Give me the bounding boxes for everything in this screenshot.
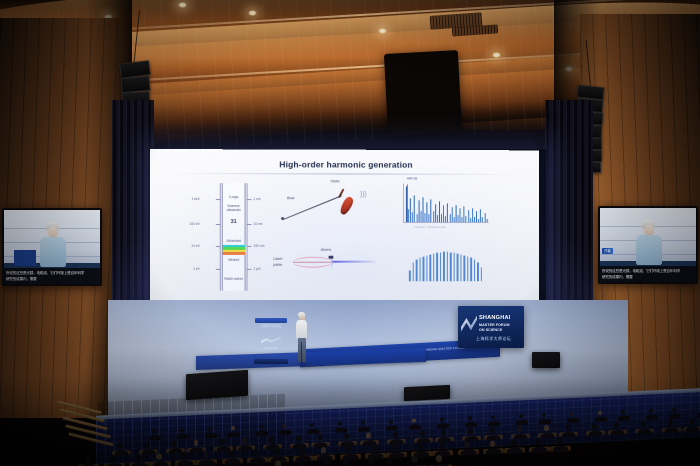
audience-member-head [490, 428, 495, 434]
em-spectrum-diagram: 1 keV 100 eV 10 eV 1 eV 1 nm 10 nm 100 n… [190, 183, 275, 291]
audience-member-head [361, 420, 365, 425]
audience-member-head [411, 456, 417, 464]
violin-body [338, 195, 355, 216]
audience-member-head [321, 447, 326, 453]
atom-target [328, 256, 333, 259]
spectrum-tick-right [247, 199, 252, 200]
laser-label-line2: pulse [273, 263, 282, 267]
spectrum-tick-right [247, 224, 252, 225]
forum-logo-swoosh [461, 314, 477, 336]
energy-label: 100 eV [189, 222, 199, 226]
harmonic-peak [433, 212, 434, 222]
harmonic-peak [409, 271, 411, 282]
monitor-subtitle-line2: 研究的成果内，需要 [6, 277, 98, 282]
audience-member-head [172, 441, 177, 447]
harmonic-peak [470, 218, 471, 222]
audience-member-head [259, 425, 263, 430]
audience-member-head [464, 442, 469, 448]
audience-member-head [254, 450, 259, 456]
harmonic-peak [453, 217, 454, 222]
audience-member-head [368, 457, 374, 465]
harmonic-peak [406, 186, 407, 222]
harmonic-peak [474, 217, 475, 222]
harmonic-peak [462, 218, 463, 222]
audience-member-head [412, 418, 416, 423]
auditorium-scene: High-order harmonic generation 1 keV 100… [0, 0, 700, 466]
spectrum-tick-right [247, 246, 252, 247]
podium-base [254, 359, 288, 364]
audience-member-head [517, 426, 522, 432]
audience-member-head [440, 417, 444, 422]
audience-member-head [275, 460, 281, 466]
bow-label: Bow [287, 196, 294, 200]
forum-sign-line3: ON SCIENCE [479, 328, 502, 332]
audience-member-head [228, 451, 233, 457]
spectrum-tick-left [216, 224, 221, 225]
presenter-shadow [294, 362, 312, 366]
audience-member-head [296, 436, 301, 442]
wavelength-label: 1 µm [253, 267, 260, 271]
harmonic-peak [486, 219, 487, 222]
monitor-speaker-body [40, 237, 66, 267]
audience-member-head [118, 443, 123, 449]
audience-member-head [343, 458, 349, 466]
harmonic-peak [445, 216, 446, 222]
audience-member-head [338, 421, 342, 426]
audience-member-head [180, 428, 184, 433]
audience-member-head [557, 438, 562, 444]
audience-seating [0, 398, 700, 466]
lectern-podium: 上海科学大师论坛 SHANGHAI [256, 318, 286, 364]
slide-title: High-order harmonic generation [150, 159, 539, 170]
audience-member-head [344, 434, 349, 440]
harmonic-peak [457, 254, 459, 282]
stage-equipment-case [532, 352, 560, 368]
harmonic-peak [464, 206, 465, 222]
audience-member-head [324, 459, 330, 466]
harmonic-peak [484, 213, 485, 222]
audience-member-head [442, 430, 447, 436]
violin-label: Violin [330, 179, 339, 183]
harmonic-peak [449, 215, 450, 222]
audience-member-head [510, 440, 515, 446]
audience-member-head [212, 463, 218, 466]
harmonic-peak [431, 200, 432, 223]
harmonic-peak [460, 254, 462, 281]
harmonic-peak [416, 260, 418, 281]
monitor-speaker-body [636, 235, 662, 265]
ceiling-downlight [492, 52, 501, 58]
audience-member-head [519, 414, 523, 419]
harmonic-peak [437, 215, 438, 222]
band-name-xrays: X-rays [222, 196, 246, 200]
harmonic-peak [467, 256, 469, 281]
harmonic-peaks [403, 183, 489, 223]
spectrum-tick-left [216, 269, 221, 270]
presenter-leg-gap [301, 342, 302, 362]
audience-member-head [282, 424, 286, 429]
wavelength-label: 1 nm [253, 197, 260, 201]
harmonic-comb-peaks [405, 247, 489, 283]
band-name-uv: Ultraviolet [222, 240, 246, 244]
highlight-energy-value: 31 [222, 219, 246, 225]
audience-member-head [274, 449, 279, 455]
harmonic-peak [470, 258, 472, 281]
band-name-euv: Extreme ultraviolet [222, 205, 246, 213]
harmonic-peak [419, 258, 421, 281]
harmonic-peak [447, 203, 448, 222]
audience-member-head [392, 444, 397, 450]
forum-signage: SHANGHAI MASTER FORUM ON SCIENCE 上海科学大师论… [458, 306, 524, 348]
audience-member-head [346, 446, 351, 452]
audience-member-head [208, 427, 212, 432]
band-name-radio: Radio waves [222, 278, 246, 282]
harmonic-peak [453, 253, 455, 281]
audience-member-head [182, 452, 187, 458]
ceiling-downlight [248, 10, 257, 16]
harmonic-peak [408, 209, 409, 222]
energy-label: 1 keV [191, 197, 199, 201]
audience-member-head [85, 456, 90, 462]
harmonic-peak [414, 196, 415, 222]
audience-member-head [318, 435, 323, 441]
harmonic-peak [443, 252, 445, 281]
harmonic-peak [425, 213, 426, 222]
harmonic-peak [443, 206, 444, 222]
harmonic-peak [433, 254, 435, 282]
harmonic-peak [412, 212, 413, 222]
acoustic-panel [384, 50, 462, 136]
audience-member-head [269, 437, 274, 443]
audience-member-head [299, 460, 305, 466]
audience-member-head [436, 455, 442, 463]
harmonic-peak [439, 202, 440, 222]
audience-member-head [491, 415, 495, 420]
harmonic-peak [478, 219, 479, 222]
audience-member-head [372, 445, 377, 451]
harmonic-peak [423, 256, 425, 281]
band-name-infrared: Infrared [222, 259, 246, 263]
harmonic-peak [441, 214, 442, 222]
harmonic-peak [416, 214, 417, 222]
energy-label: 1 eV [193, 267, 200, 271]
audience-member-head [203, 452, 208, 458]
presenter-torso [296, 320, 307, 339]
harmonic-peak [480, 209, 481, 222]
projection-screen: High-order harmonic generation 1 keV 100… [150, 149, 546, 304]
wavelength-label: 100 nm [253, 244, 264, 248]
monitor-podium [14, 250, 36, 266]
audience-member-head [300, 448, 305, 454]
violin-neck [338, 188, 344, 198]
audience-member-head [592, 423, 597, 429]
audience-member-head [614, 422, 619, 428]
atoms-label: Atoms [321, 248, 332, 252]
audience-member-head [145, 442, 150, 448]
harmonic-peak [458, 215, 459, 222]
monitor-screen-right: 开幕 所说的这些是光锅，电磁波，它们环境上是百年科学 研究的成果内，需要 [600, 208, 696, 282]
harmonic-peak [429, 254, 431, 281]
audience-member-head [393, 432, 398, 438]
audience-member-head [366, 433, 371, 439]
audience-member-head [468, 416, 472, 421]
audience-member-head [542, 413, 546, 418]
audience-member-head [242, 438, 247, 444]
energy-label: 10 eV [191, 244, 200, 248]
bow-frog [281, 217, 284, 220]
audience-member-head [621, 409, 625, 414]
audience-member-head [152, 429, 156, 434]
audience-member-head [672, 407, 676, 412]
spectrum-tick-right [247, 269, 252, 270]
audience-member-head [649, 408, 653, 413]
violin-harmonic-spectrum-plot: 440 Hz Courtesy: Christoph Hauri [403, 183, 489, 223]
wavelength-label: 10 nm [253, 222, 262, 226]
audience-member-head [387, 457, 393, 465]
audience-member-head [389, 419, 393, 424]
audience-member-head [418, 443, 423, 449]
audience-member-head [156, 453, 161, 459]
audience-member-head [598, 410, 602, 415]
harmonic-peak [472, 208, 473, 222]
harmonic-peak [427, 203, 428, 223]
plot-credit: Courtesy: Christoph Hauri [415, 225, 446, 229]
audience-member-head [194, 440, 199, 446]
harmonic-peak [440, 252, 442, 281]
audience-member-head [231, 462, 237, 466]
audience-member-head [256, 461, 262, 466]
harmonic-peak [451, 207, 452, 222]
frequency-label: 440 Hz [407, 177, 417, 181]
audience-member-head [231, 426, 235, 431]
monitor-subtitle-line1: 所说的这些是光锅，电磁波，它们环境上是百年科学 [602, 269, 694, 274]
audience-member-head [420, 430, 425, 436]
presenter-figure [294, 312, 310, 364]
harmonic-peak [412, 263, 414, 282]
harmonic-peak [466, 216, 467, 222]
harmonic-peak [476, 212, 477, 222]
audience-member-head [490, 441, 495, 447]
harmonic-peak [468, 210, 469, 222]
sound-wave-icon: ))) [360, 191, 367, 198]
harmonic-peak [477, 263, 479, 281]
monitor-screen-left: 所说的这些是光锅，电磁波，它们环境上是百年科学 研究的成果内，需要 [4, 210, 100, 284]
harmonic-peak [410, 199, 411, 222]
audience-member-head [641, 421, 646, 427]
monitor-subtitle-bar-right: 所说的这些是光锅，电磁波，它们环境上是百年科学 研究的成果内，需要 [600, 266, 696, 282]
side-monitor-right: 开幕 所说的这些是光锅，电磁波，它们环境上是百年科学 研究的成果内，需要 [598, 206, 698, 284]
laser-label-line1: Laser [273, 257, 282, 261]
harmonic-peak [460, 209, 461, 222]
audience-member-head [668, 420, 673, 426]
audience-member-head [220, 439, 225, 445]
harmonic-peak [455, 205, 456, 222]
audience-member-head [566, 424, 571, 430]
harmonic-peak [435, 204, 436, 222]
audience-member-head [690, 419, 695, 425]
audience-member-head [544, 425, 549, 431]
harmonic-peak [418, 200, 419, 222]
spectrum-tick-left [216, 199, 221, 200]
audience-member-head [136, 454, 141, 460]
audience-member-head [570, 412, 574, 417]
spectrum-tick-left [216, 246, 221, 247]
audience-member-head [536, 439, 541, 445]
violin-analogy-diagram: Bow Violin ))) [277, 179, 395, 235]
harmonic-emission-beam [332, 261, 375, 263]
harmonic-peak [482, 218, 483, 222]
audience-member-head [310, 422, 314, 427]
harmonic-peak [450, 252, 452, 281]
harmonic-peak [463, 255, 465, 281]
side-monitor-left: 所说的这些是光锅，电磁波，它们环境上是百年科学 研究的成果内，需要 [2, 208, 102, 286]
ceiling-downlight [378, 28, 387, 34]
slide-title-rule [172, 173, 518, 175]
forum-sign-line4: 上海科学大师论坛 [476, 336, 511, 342]
forum-sign-line2: MASTER FORUM [479, 323, 510, 327]
forum-sign-line1: SHANGHAI [479, 315, 510, 321]
harmonic-peak [422, 197, 423, 222]
harmonic-peak [480, 267, 482, 281]
monitor-subtitle-line1: 所说的这些是光锅，电磁波，它们环境上是百年科学 [6, 271, 98, 276]
harmonic-peak [436, 253, 438, 281]
harmonic-peak [426, 255, 428, 281]
presentation-slide: High-order harmonic generation 1 keV 100… [150, 149, 539, 304]
monitor-name-badge: 开幕 [602, 248, 613, 254]
harmonic-peak [420, 211, 421, 222]
harmonic-peak [446, 252, 448, 281]
laser-atoms-diagram: Laser pulse Atoms [273, 245, 395, 285]
harmonic-peak [474, 260, 476, 281]
harmonic-peak [429, 215, 430, 222]
hhg-spectrum-plot [405, 247, 489, 283]
monitor-subtitle-bar-left: 所说的这些是光锅，电磁波，它们环境上是百年科学 研究的成果内，需要 [4, 268, 100, 284]
ceiling-downlight [178, 2, 187, 8]
monitor-subtitle-line2: 研究的成果内，需要 [602, 275, 694, 280]
audience-member-head [468, 428, 473, 434]
audience-member-head [439, 443, 444, 449]
audience-member-head [110, 455, 115, 461]
visible-band-orange [223, 252, 246, 254]
